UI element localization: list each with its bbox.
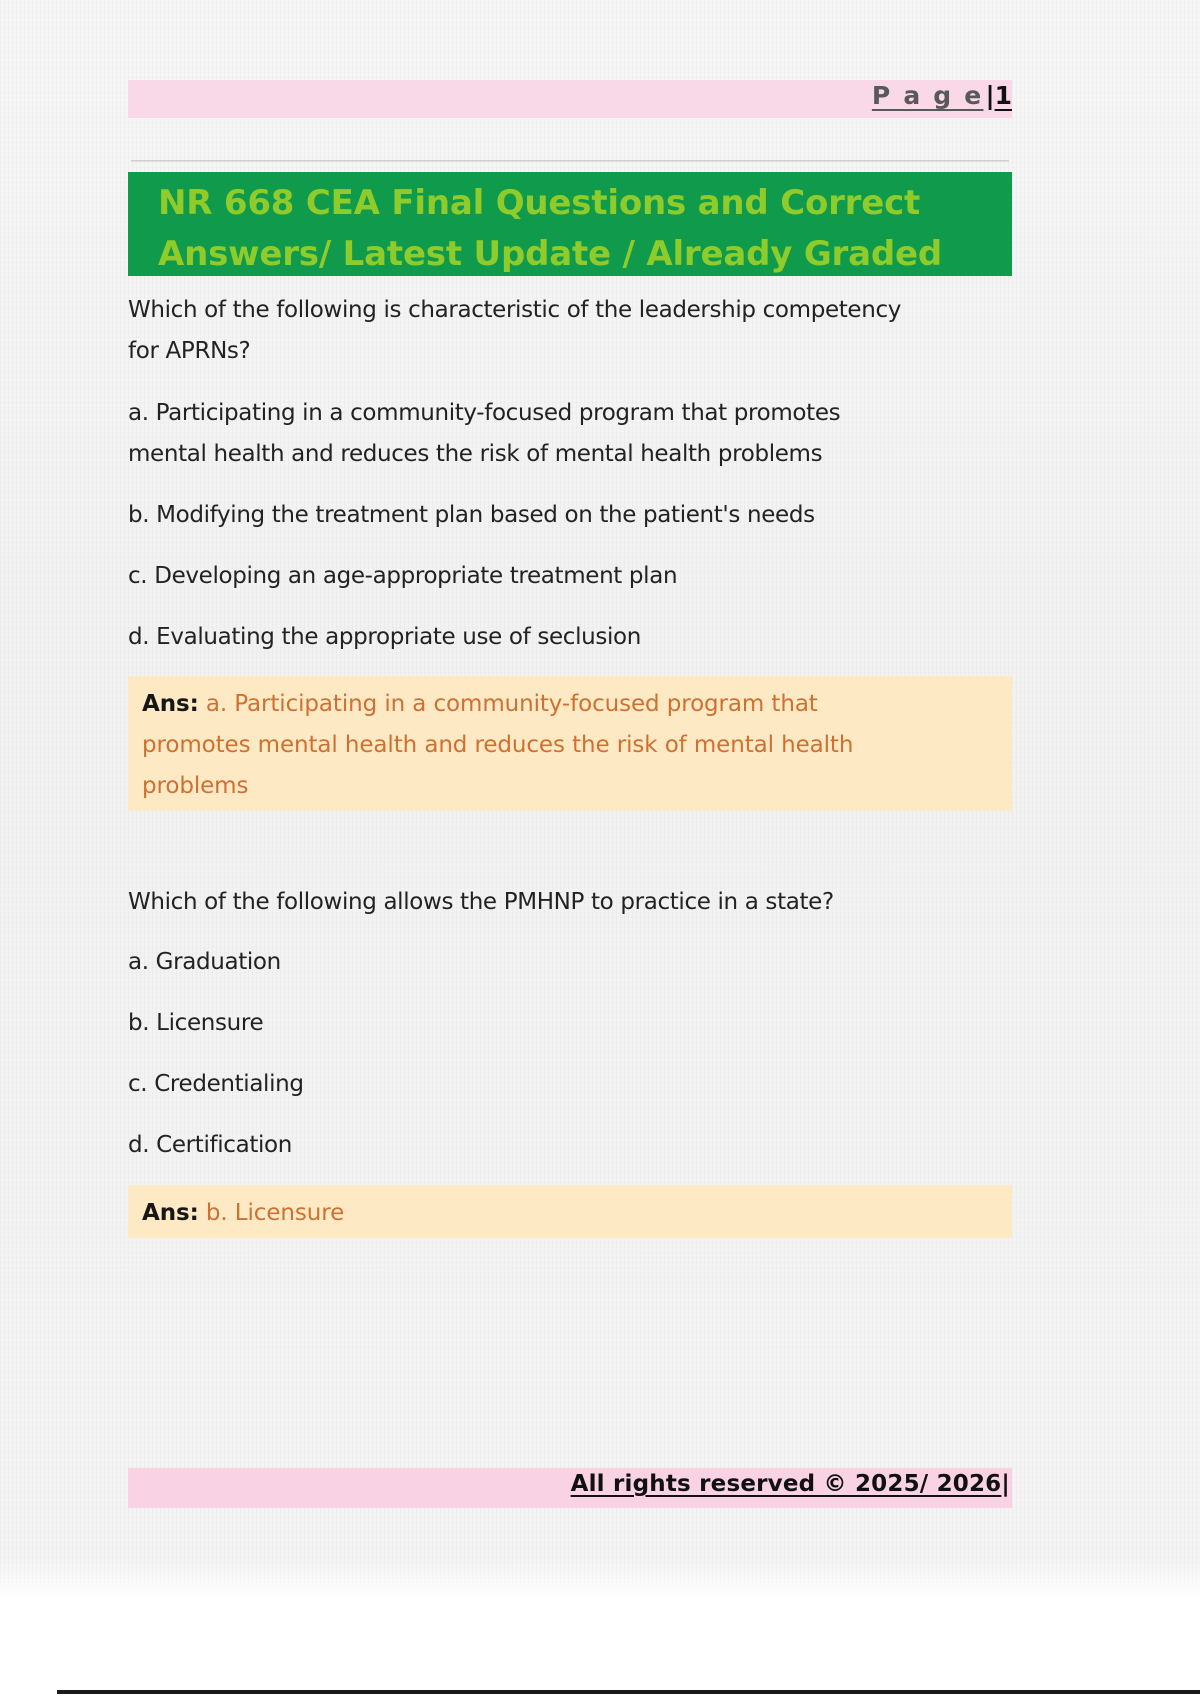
- question-2-option-a[interactable]: a. Graduation: [128, 942, 1012, 983]
- header-divider-rule: [131, 160, 1009, 162]
- question-2-option-c-text: c. Credentialing: [128, 1064, 1012, 1105]
- page-label: P a g e: [872, 81, 984, 110]
- document-title-line-1: NR 668 CEA Final Questions and Correct: [158, 178, 986, 229]
- question-1-answer-text-2: promotes mental health and reduces the r…: [142, 725, 998, 766]
- question-1-option-a-line-1: a. Participating in a community-focused …: [128, 393, 1012, 434]
- page-number: 1: [995, 81, 1012, 110]
- page-header-band: P a g e|1: [128, 80, 1012, 118]
- question-1-answer-text-1: a. Participating in a community-focused …: [199, 691, 818, 717]
- question-1-option-c[interactable]: c. Developing an age-appropriate treatme…: [128, 556, 1012, 597]
- footer-trailing-bar: |: [1001, 1471, 1010, 1497]
- question-2-option-d-text: d. Certification: [128, 1125, 1012, 1166]
- question-1-answer-text-3: problems: [142, 766, 998, 807]
- page-bottom-separator: [57, 1690, 1200, 1694]
- page-header-text: P a g e|1: [872, 81, 1012, 110]
- question-1-option-d[interactable]: d. Evaluating the appropriate use of sec…: [128, 617, 1012, 658]
- question-2-answer-label: Ans:: [142, 1200, 199, 1226]
- question-2-option-d[interactable]: d. Certification: [128, 1125, 1012, 1166]
- question-1-option-a-line-2: mental health and reduces the risk of me…: [128, 434, 1012, 475]
- question-1-option-c-text: c. Developing an age-appropriate treatme…: [128, 556, 1012, 597]
- question-2-answer-text-1: b. Licensure: [199, 1200, 344, 1226]
- document-title-banner: NR 668 CEA Final Questions and Correct A…: [128, 172, 1012, 276]
- question-1-answer-label: Ans:: [142, 691, 199, 717]
- question-2-option-b[interactable]: b. Licensure: [128, 1003, 1012, 1044]
- question-1-stem: Which of the following is characteristic…: [128, 290, 1012, 372]
- question-2-option-c[interactable]: c. Credentialing: [128, 1064, 1012, 1105]
- question-2-stem: Which of the following allows the PMHNP …: [128, 882, 1012, 923]
- question-2-stem-line-1: Which of the following allows the PMHNP …: [128, 882, 1012, 923]
- question-1-answer-box: Ans: a. Participating in a community-foc…: [128, 676, 1012, 811]
- copyright-text: All rights reserved © 2025/ 2026: [571, 1471, 1002, 1497]
- page-footer-band: All rights reserved © 2025/ 2026|: [128, 1468, 1012, 1508]
- question-1-stem-line-2: for APRNs?: [128, 331, 1012, 372]
- question-1-option-b-text: b. Modifying the treatment plan based on…: [128, 495, 1012, 536]
- question-1-answer-line-1: Ans: a. Participating in a community-foc…: [142, 684, 998, 725]
- question-2-option-a-text: a. Graduation: [128, 942, 1012, 983]
- question-2-answer-box: Ans: b. Licensure: [128, 1185, 1012, 1238]
- question-1-stem-line-1: Which of the following is characteristic…: [128, 290, 1012, 331]
- question-2-option-b-text: b. Licensure: [128, 1003, 1012, 1044]
- question-2-answer-line-1: Ans: b. Licensure: [142, 1193, 998, 1234]
- page-bottom-fade: [0, 1560, 1200, 1600]
- question-1-option-d-text: d. Evaluating the appropriate use of sec…: [128, 617, 1012, 658]
- page-separator: |: [983, 81, 994, 110]
- question-1-option-a[interactable]: a. Participating in a community-focused …: [128, 393, 1012, 475]
- document-title-line-2: Answers/ Latest Update / Already Graded: [158, 229, 986, 280]
- page-footer-text: All rights reserved © 2025/ 2026|: [571, 1471, 1010, 1497]
- question-1-option-b[interactable]: b. Modifying the treatment plan based on…: [128, 495, 1012, 536]
